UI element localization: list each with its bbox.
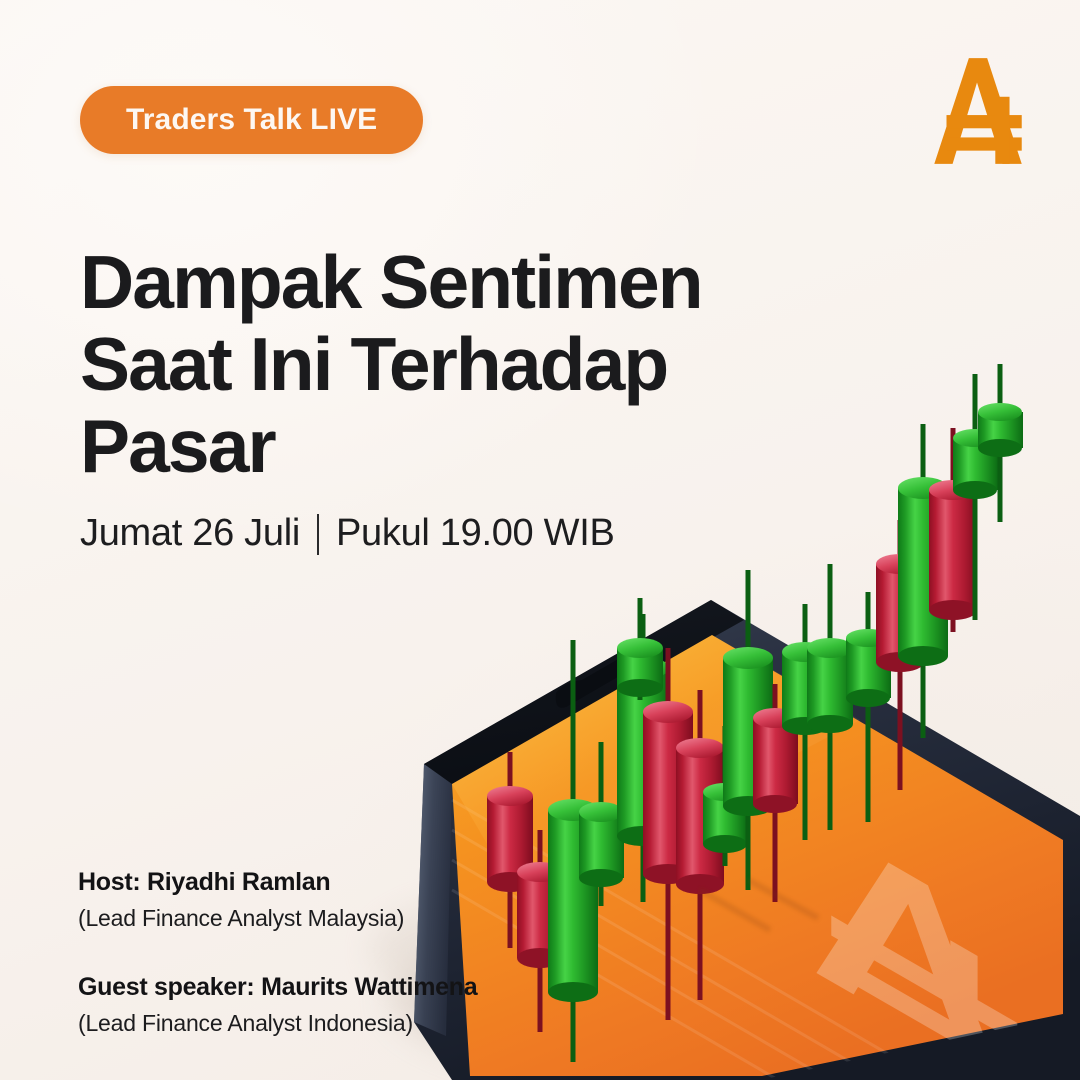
- schedule-separator: [317, 514, 319, 555]
- guest-name: Guest speaker: Maurits Wattimena: [78, 971, 477, 1003]
- host-role: (Lead Finance Analyst Malaysia): [78, 903, 477, 933]
- speaker-list: Host: Riyadhi Ramlan (Lead Finance Analy…: [78, 866, 477, 1039]
- page-title: Dampak Sentimen Saat Ini Terhadap Pasar: [80, 242, 800, 487]
- event-date: Jumat 26 Juli: [80, 512, 300, 555]
- headline-line-3: Pasar: [80, 406, 800, 488]
- live-badge[interactable]: Traders Talk LIVE: [80, 86, 423, 154]
- host-name: Host: Riyadhi Ramlan: [78, 866, 477, 898]
- event-schedule: Jumat 26 Juli Pukul 19.00 WIB: [80, 512, 615, 555]
- headline-line-2: Saat Ini Terhadap: [80, 324, 800, 406]
- event-time: Pukul 19.00 WIB: [336, 512, 615, 555]
- speaker-host: Host: Riyadhi Ramlan (Lead Finance Analy…: [78, 866, 477, 933]
- speaker-guest: Guest speaker: Maurits Wattimena (Lead F…: [78, 971, 477, 1038]
- poster-canvas: Traders Talk LIVE Dampak Sentimen Saat I…: [0, 0, 1080, 1080]
- guest-role: (Lead Finance Analyst Indonesia): [78, 1008, 477, 1038]
- live-badge-label: Traders Talk LIVE: [126, 103, 377, 137]
- brand-logo-a-icon: [916, 52, 1038, 170]
- headline-line-1: Dampak Sentimen: [80, 242, 800, 324]
